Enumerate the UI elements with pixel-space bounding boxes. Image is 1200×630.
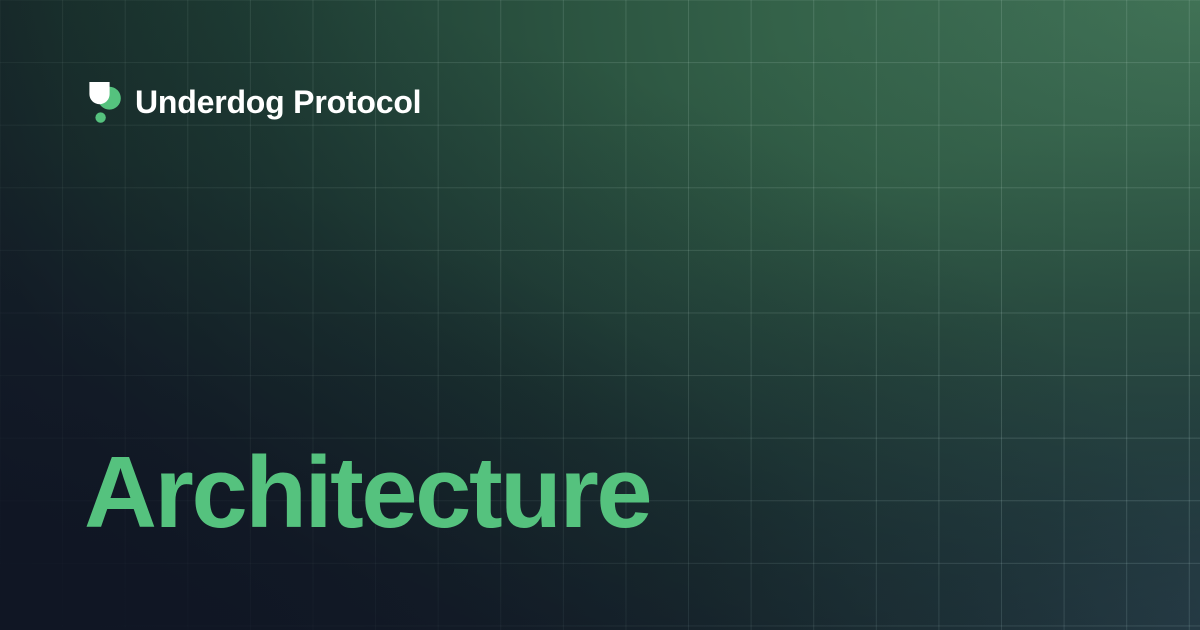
page-title: Architecture (84, 443, 650, 544)
brand-lockup: Underdog Protocol (88, 80, 421, 126)
og-card: Underdog Protocol Architecture (0, 0, 1200, 630)
underdog-logo-mark-icon (88, 82, 122, 124)
card-content: Underdog Protocol Architecture (0, 0, 1200, 630)
brand-name: Underdog Protocol (135, 86, 421, 120)
